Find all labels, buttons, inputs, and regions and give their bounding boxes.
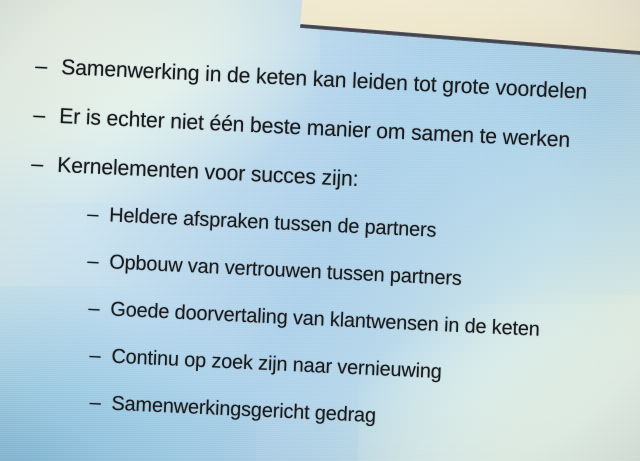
photo-noise-texture <box>0 0 640 461</box>
slide-photo-canvas: – Samenwerking in de keten kan leiden to… <box>0 0 640 461</box>
